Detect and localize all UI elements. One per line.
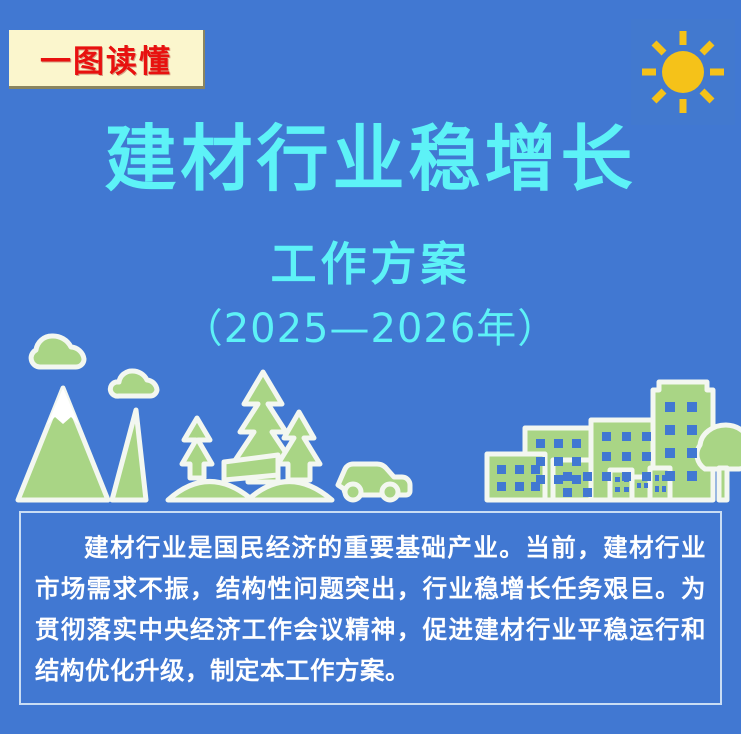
pine-tree-small bbox=[182, 418, 212, 478]
poster-subtitle: 工作方案 bbox=[0, 228, 741, 294]
summary-textbox: 建材行业是国民经济的重要基础产业。当前，建材行业市场需求不振，结构性问题突出，行… bbox=[19, 511, 722, 705]
car bbox=[338, 464, 410, 500]
infographic-poster: 一图读懂 建材行业稳增长 工作方案 （2025—2026年） bbox=[0, 0, 741, 734]
summary-paragraph: 建材行业是国民经济的重要基础产业。当前，建材行业市场需求不振，结构性问题突出，行… bbox=[35, 527, 706, 691]
cloud-small bbox=[110, 371, 157, 396]
poster-main-title: 建材行业稳增长 bbox=[0, 122, 741, 198]
mountain-small bbox=[112, 410, 146, 500]
sun-icon bbox=[631, 19, 735, 125]
landscape-city-illustration bbox=[0, 320, 741, 510]
read-in-one-picture-badge: 一图读懂 bbox=[9, 30, 205, 89]
mountain-with-snow-cap bbox=[18, 388, 108, 500]
fence bbox=[224, 455, 278, 480]
cloud-large bbox=[31, 336, 84, 367]
badge-label: 一图读懂 bbox=[40, 36, 172, 81]
